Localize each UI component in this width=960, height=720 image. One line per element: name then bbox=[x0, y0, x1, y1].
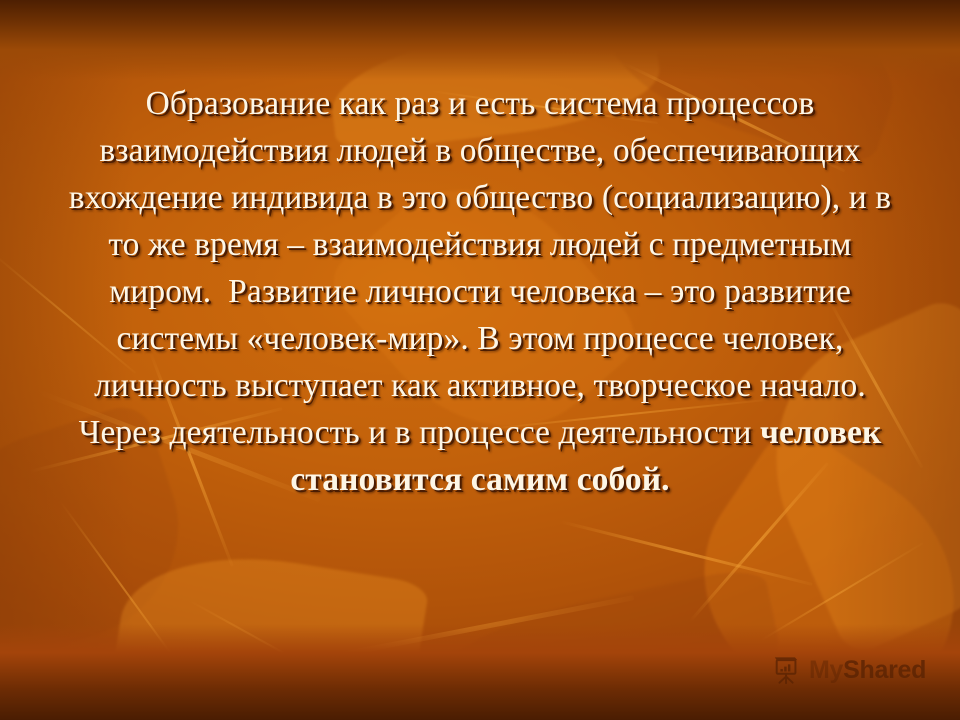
watermark-label-prefix: My bbox=[809, 656, 843, 684]
slide-body-text: Образование как раз и есть система проце… bbox=[64, 80, 896, 503]
body-text-run: Образование как раз и есть система проце… bbox=[69, 85, 900, 451]
watermark-label-suffix: Shared bbox=[843, 656, 926, 684]
myshared-watermark-label: MyShared bbox=[809, 658, 926, 683]
myshared-watermark: MyShared bbox=[772, 655, 926, 685]
presentation-easel-chart-icon bbox=[772, 655, 802, 685]
background-top-vignette bbox=[0, 0, 960, 80]
presentation-slide: Образование как раз и есть система проце… bbox=[0, 0, 960, 720]
